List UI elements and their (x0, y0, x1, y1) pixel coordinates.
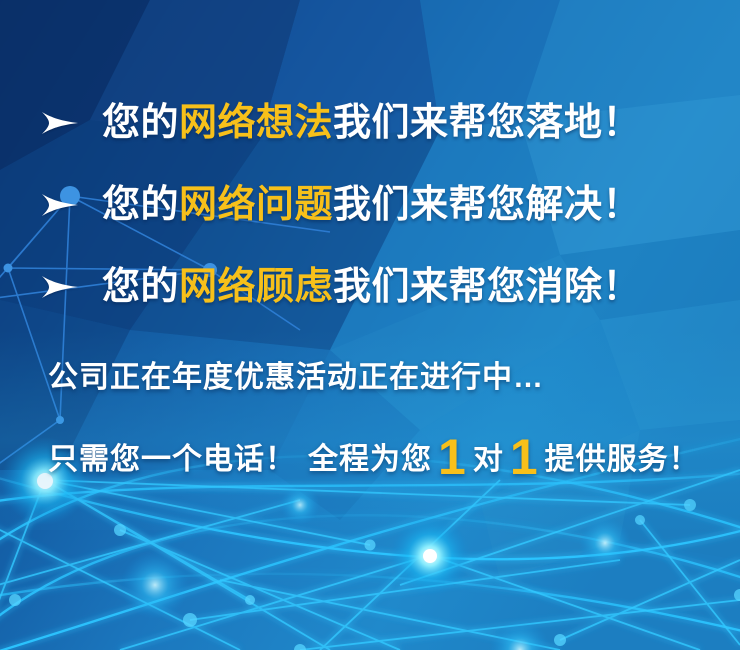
arrow-right-triangle-icon (40, 270, 86, 304)
banner-content: 您的网络想法我们来帮您落地！ 您的网络问题我们来帮您解决！ 您的网络顾虑我们来帮… (0, 0, 740, 650)
bullet-2-suffix: 我们来帮您解决！ (333, 184, 641, 226)
bullet-3-highlight: 网络顾虑 (179, 266, 333, 308)
promo-line2-part2: 全程为您 (308, 443, 432, 476)
bullet-3-suffix: 我们来帮您消除！ (333, 266, 641, 308)
bullet-2-prefix: 您的 (102, 184, 179, 226)
promo-line-1: 公司正在年度优惠活动正在进行中… (48, 363, 544, 393)
bullet-1-suffix: 我们来帮您落地！ (333, 102, 641, 144)
arrow-right-triangle-icon (40, 106, 86, 140)
promo-number-2: 1 (504, 429, 545, 485)
promo-line2-part3: 提供服务！ (545, 443, 700, 476)
promo-number-1: 1 (432, 429, 473, 485)
bullet-item-1: 您的网络想法我们来帮您落地！ (40, 104, 641, 142)
arrow-right-triangle-icon (40, 188, 86, 222)
promo-line2-part1: 只需您一个电话！ (48, 443, 296, 476)
bullet-1-prefix: 您的 (102, 102, 179, 144)
promo-line-2: 只需您一个电话！全程为您1对1提供服务！ (48, 432, 700, 482)
bullet-3-prefix: 您的 (102, 266, 179, 308)
bullet-text-2: 您的网络问题我们来帮您解决！ (102, 186, 641, 224)
bullet-text-3: 您的网络顾虑我们来帮您消除！ (102, 268, 641, 306)
bullet-item-2: 您的网络问题我们来帮您解决！ (40, 186, 641, 224)
bullet-2-highlight: 网络问题 (179, 184, 333, 226)
bullet-text-1: 您的网络想法我们来帮您落地！ (102, 104, 641, 142)
promo-line2-middle: 对 (473, 443, 504, 476)
promo-banner: 您的网络想法我们来帮您落地！ 您的网络问题我们来帮您解决！ 您的网络顾虑我们来帮… (0, 0, 740, 650)
bullet-1-highlight: 网络想法 (179, 102, 333, 144)
bullet-item-3: 您的网络顾虑我们来帮您消除！ (40, 268, 641, 306)
